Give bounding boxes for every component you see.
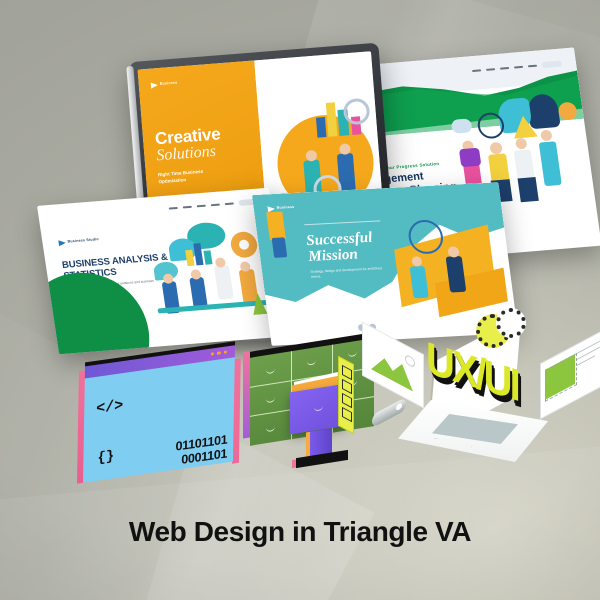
page-title: Web Design in Triangle VA <box>0 516 600 548</box>
poster-canvas: Business Growing Up Your Progress Soluti… <box>0 0 600 600</box>
vignette-overlay <box>0 0 600 600</box>
